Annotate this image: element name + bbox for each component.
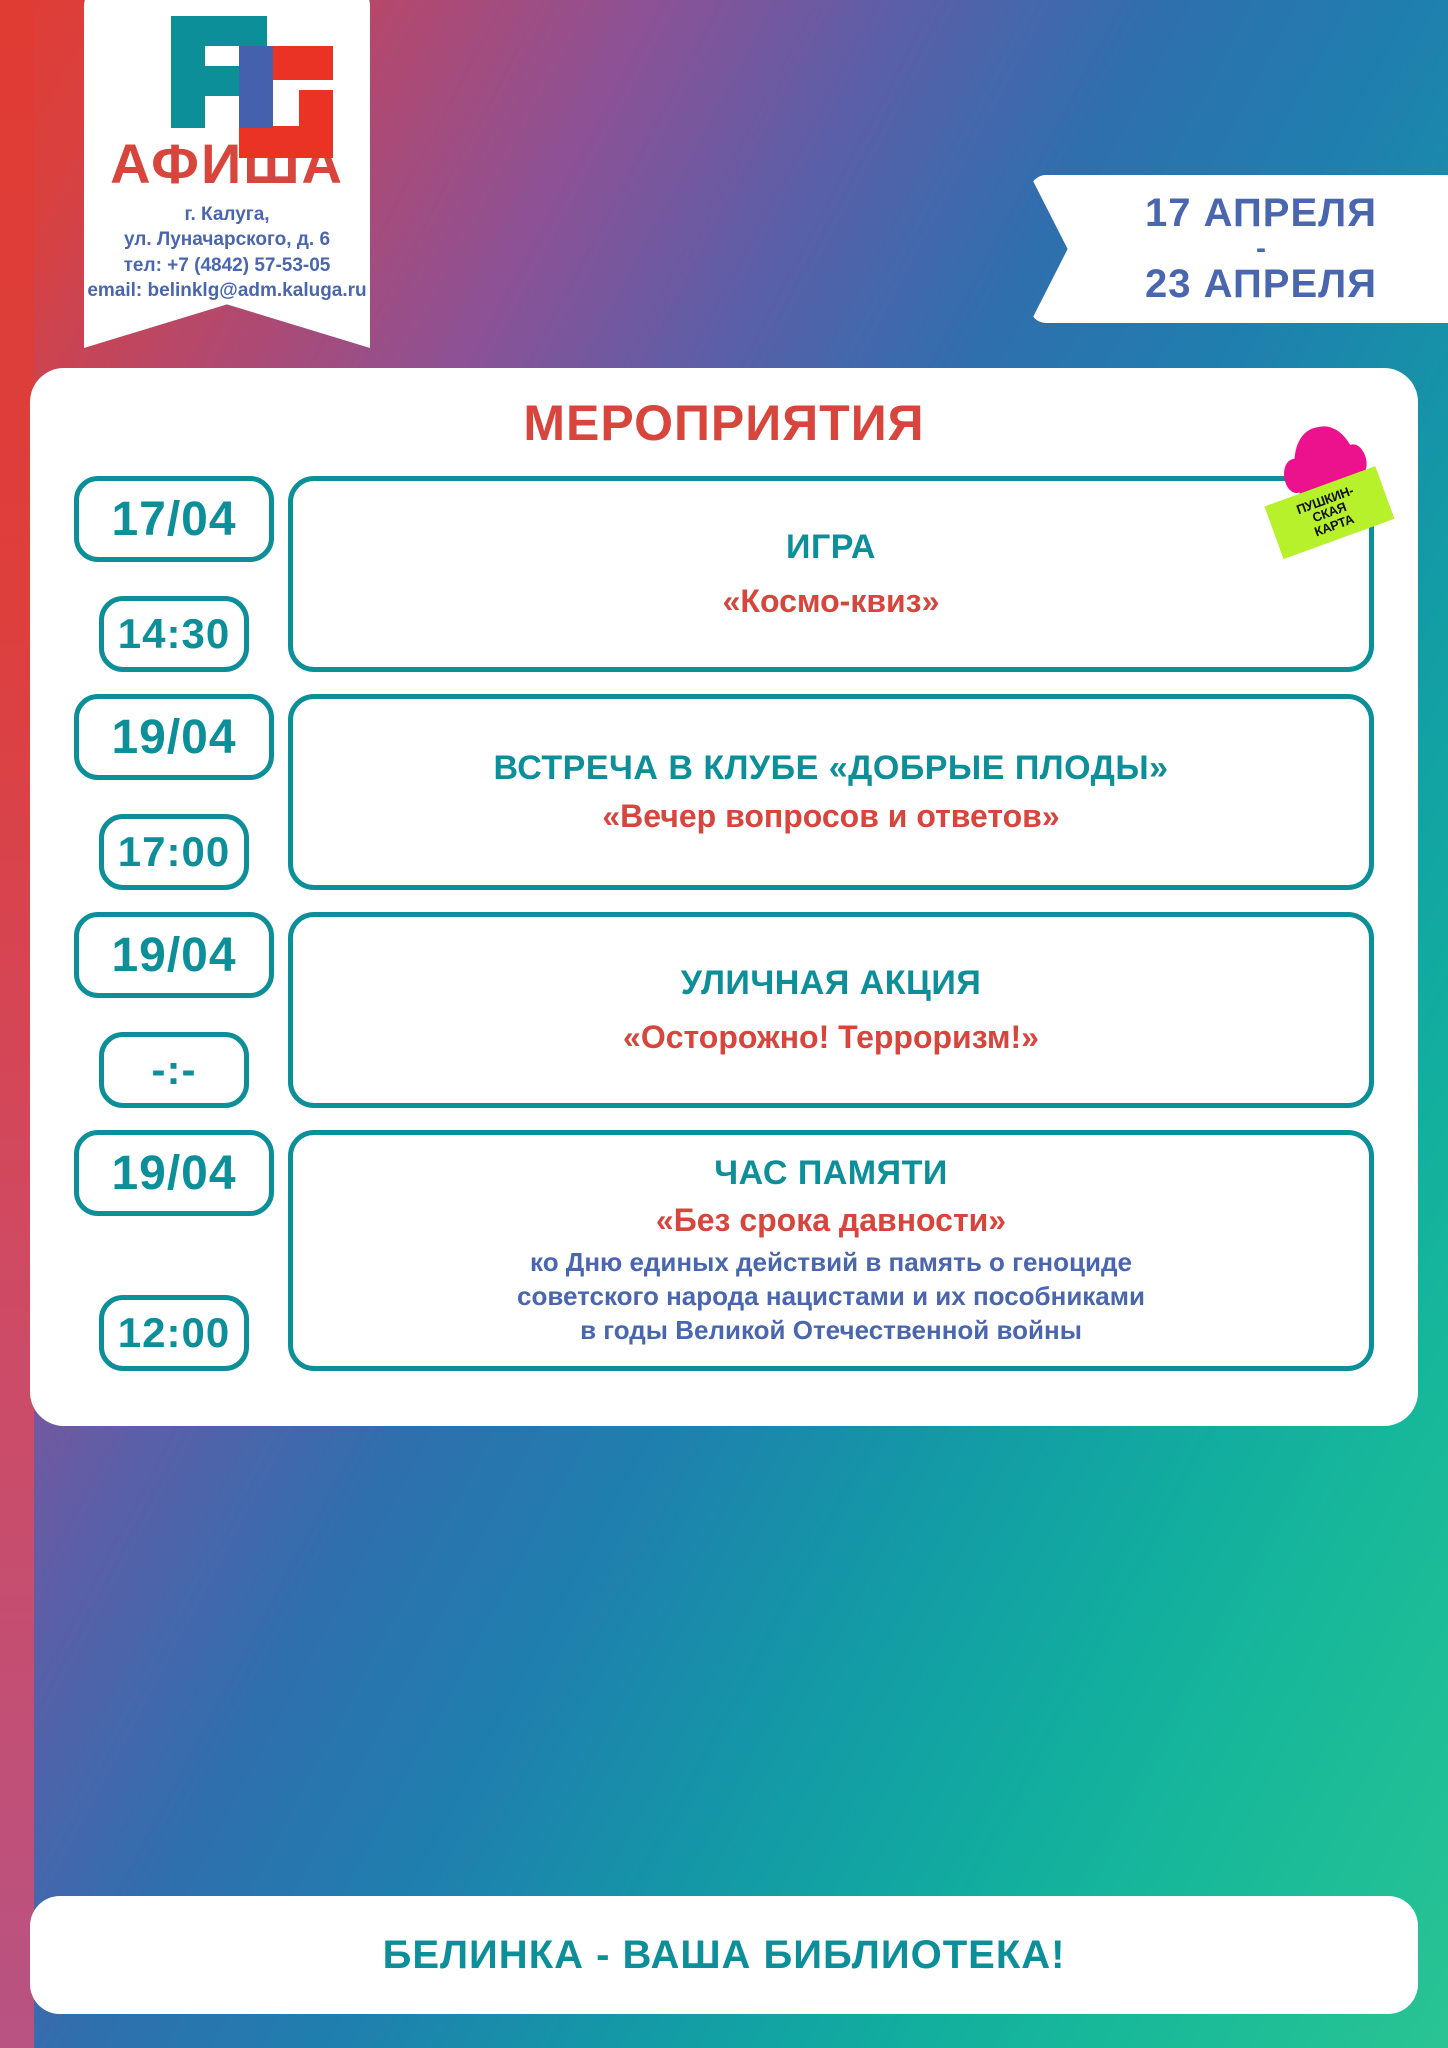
event-card: УЛИЧНАЯ АКЦИЯ «Осторожно! Терроризм!» [288,912,1374,1108]
event-date: 17/04 [74,476,274,562]
event-row: 19/04 12:00 ЧАС ПАМЯТИ «Без срока давнос… [74,1130,1374,1371]
event-row: 19/04 17:00 ВСТРЕЧА В КЛУБЕ «ДОБРЫЕ ПЛОД… [74,694,1374,890]
event-row: 19/04 -:- УЛИЧНАЯ АКЦИЯ «Осторожно! Терр… [74,912,1374,1108]
event-when: 19/04 17:00 [74,694,274,890]
event-card: ПУШКИН- СКАЯ КАРТА ИГРА «Космо-квиз» [288,476,1374,672]
contact-city: г. Калуга, [84,202,370,227]
event-title: ВСТРЕЧА В КЛУБЕ «ДОБРЫЕ ПЛОДЫ» [493,748,1168,789]
logo-banner: АФИША г. Калуга, ул. Луначарского, д. 6 … [84,0,370,348]
event-title: ИГРА [786,527,876,568]
event-time: 14:30 [99,596,249,672]
event-description-line: советского народа нацистами и их пособни… [517,1280,1145,1314]
event-when: 17/04 14:30 [74,476,274,672]
logo-contacts: г. Калуга, ул. Луначарского, д. 6 тел: +… [84,202,370,304]
date-range-from: 17 АПРЕЛЯ [1145,191,1377,237]
date-range-dash: - [1256,236,1266,262]
event-time: -:- [99,1032,249,1108]
event-date: 19/04 [74,912,274,998]
contact-email: email: belinklg@adm.kaluga.ru [84,278,370,303]
event-time: 12:00 [99,1295,249,1371]
event-title: ЧАС ПАМЯТИ [714,1153,948,1194]
event-subtitle: «Осторожно! Терроризм!» [623,1017,1039,1057]
event-date: 19/04 [74,694,274,780]
contact-street: ул. Луначарского, д. 6 [84,227,370,252]
belinka-logo-icon [143,14,311,130]
event-card: ЧАС ПАМЯТИ «Без срока давности» ко Дню е… [288,1130,1374,1371]
footer-banner: БЕЛИНКА - ВАША БИБЛИОТЕКА! [30,1896,1418,2014]
events-list: 17/04 14:30 ПУШКИН- СКАЯ КАРТА ИГРА «Кос… [74,476,1374,1371]
date-range-to: 23 АПРЕЛЯ [1145,262,1377,308]
pushkin-card-icon: ПУШКИН- СКАЯ КАРТА [1254,416,1396,558]
event-description-line: ко Дню единых действий в память о геноци… [517,1246,1145,1280]
footer-text: БЕЛИНКА - ВАША БИБЛИОТЕКА! [383,1933,1066,1978]
event-description: ко Дню единых действий в память о геноци… [517,1246,1145,1347]
event-row: 17/04 14:30 ПУШКИН- СКАЯ КАРТА ИГРА «Кос… [74,476,1374,672]
event-date: 19/04 [74,1130,274,1216]
event-when: 19/04 12:00 [74,1130,274,1371]
left-edge-strip [0,0,34,2048]
event-when: 19/04 -:- [74,912,274,1108]
event-title: УЛИЧНАЯ АКЦИЯ [681,963,982,1004]
event-subtitle: «Без срока давности» [656,1200,1006,1240]
event-subtitle: «Космо-квиз» [723,581,940,621]
event-time: 17:00 [99,814,249,890]
contact-phone: тел: +7 (4842) 57-53-05 [84,253,370,278]
date-range-ribbon: 17 АПРЕЛЯ - 23 АПРЕЛЯ [1030,175,1448,323]
event-card: ВСТРЕЧА В КЛУБЕ «ДОБРЫЕ ПЛОДЫ» «Вечер во… [288,694,1374,890]
events-panel: МЕРОПРИЯТИЯ 17/04 14:30 ПУШКИН- СКАЯ КАР… [30,368,1418,1426]
event-subtitle: «Вечер вопросов и ответов» [602,796,1059,836]
event-description-line: в годы Великой Отечественной войны [517,1314,1145,1348]
poster-root: АФИША г. Калуга, ул. Луначарского, д. 6 … [0,0,1448,2048]
page-title: МЕРОПРИЯТИЯ [74,394,1374,452]
